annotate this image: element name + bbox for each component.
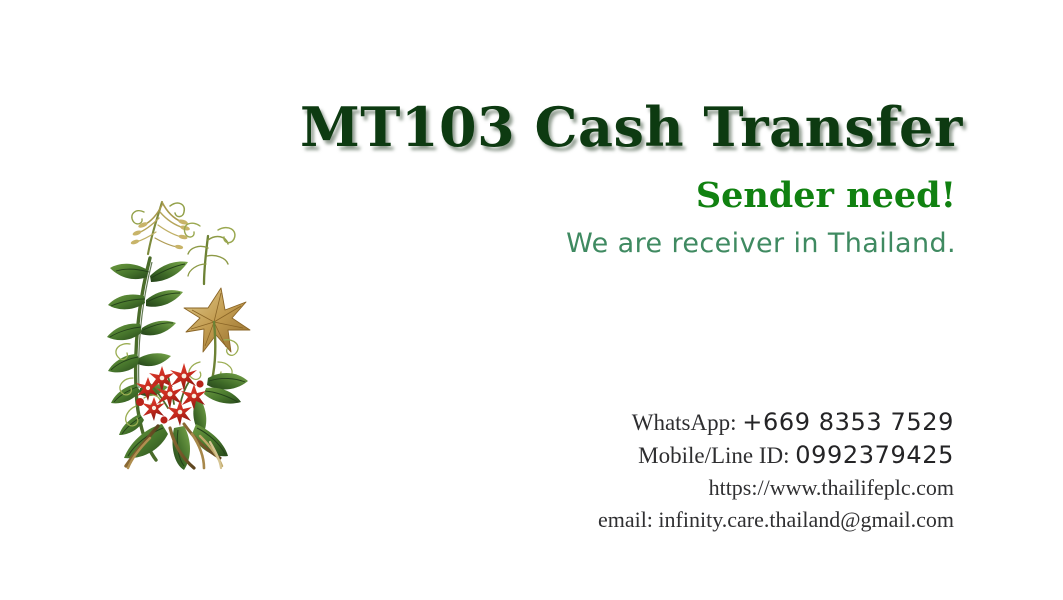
contact-block: WhatsApp: +669 8353 7529 Mobile/Line ID:… [480, 406, 954, 536]
mobile-line-id-label: Mobile/Line ID: [638, 443, 789, 468]
contact-line-whatsapp: WhatsApp: +669 8353 7529 [480, 406, 954, 439]
contact-line-email[interactable]: email: infinity.care.thailand@gmail.com [480, 504, 954, 536]
contact-line-mobile: Mobile/Line ID: 0992379425 [480, 439, 954, 472]
page-subtitle: Sender need! [300, 172, 960, 220]
page-tagline: We are receiver in Thailand. [300, 226, 960, 262]
right-upper-stalk [184, 223, 234, 284]
page-title: MT103 Cash Transfer [300, 96, 960, 158]
mobile-line-id-number[interactable]: 0992379425 [795, 441, 954, 469]
headline-block: MT103 Cash Transfer Sender need! We are … [300, 96, 960, 262]
whatsapp-label: WhatsApp: [632, 410, 737, 435]
whatsapp-number[interactable]: +669 8353 7529 [742, 408, 954, 436]
seed-head-cluster-top [130, 202, 190, 254]
contact-line-website[interactable]: https://www.thailifeplc.com [480, 472, 954, 504]
poster-canvas: MT103 Cash Transfer Sender need! We are … [0, 0, 1063, 600]
floral-wreath-illustration [100, 192, 260, 470]
tan-autumn-leaf [184, 288, 250, 352]
